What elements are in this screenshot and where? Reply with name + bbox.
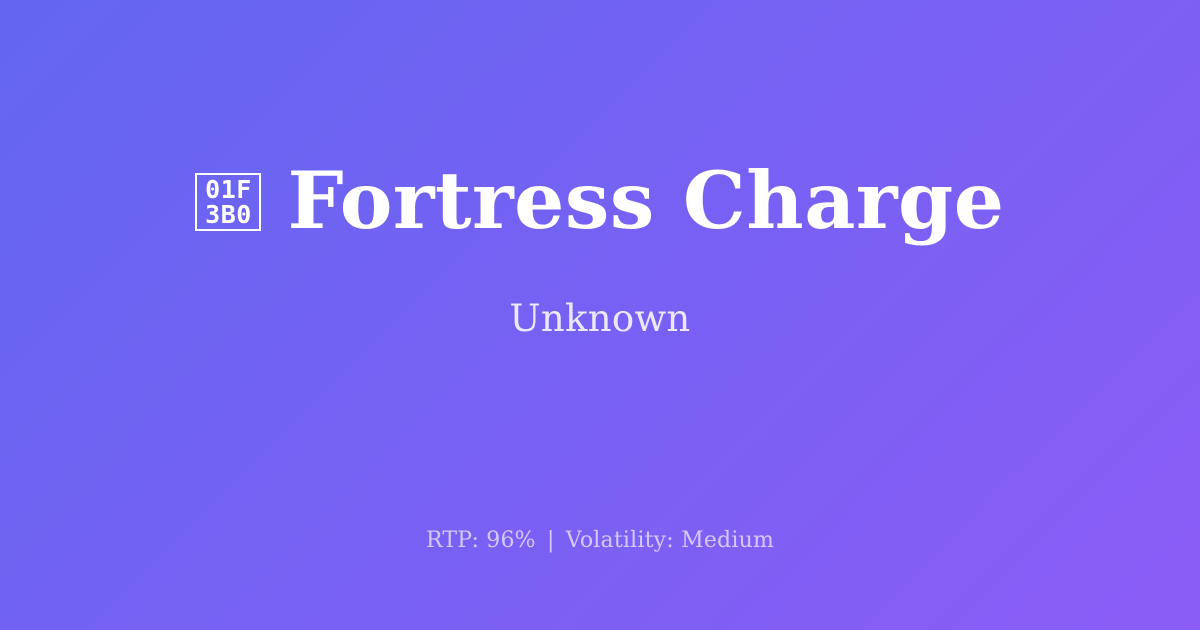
hero-block: 01F 3B0 Fortress Charge Unknown: [0, 0, 1200, 500]
footer-separator: |: [543, 528, 559, 553]
page-title: Fortress Charge: [287, 160, 1004, 243]
rtp-value: 96%: [486, 528, 536, 553]
rtp-label: RTP:: [426, 528, 479, 553]
og-card: 01F 3B0 Fortress Charge Unknown RTP: 96%…: [0, 0, 1200, 630]
footer-meta: RTP: 96% | Volatility: Medium: [0, 528, 1200, 553]
volatility-label: Volatility:: [566, 528, 674, 553]
title-row: 01F 3B0 Fortress Charge: [195, 160, 1004, 243]
page-subtitle: Unknown: [509, 297, 690, 340]
volatility-value: Medium: [681, 528, 774, 553]
tofu-codepoint-bottom: 3B0: [205, 202, 252, 228]
tofu-codepoint-top: 01F: [205, 177, 252, 203]
slot-machine-icon: 01F 3B0: [195, 173, 261, 231]
